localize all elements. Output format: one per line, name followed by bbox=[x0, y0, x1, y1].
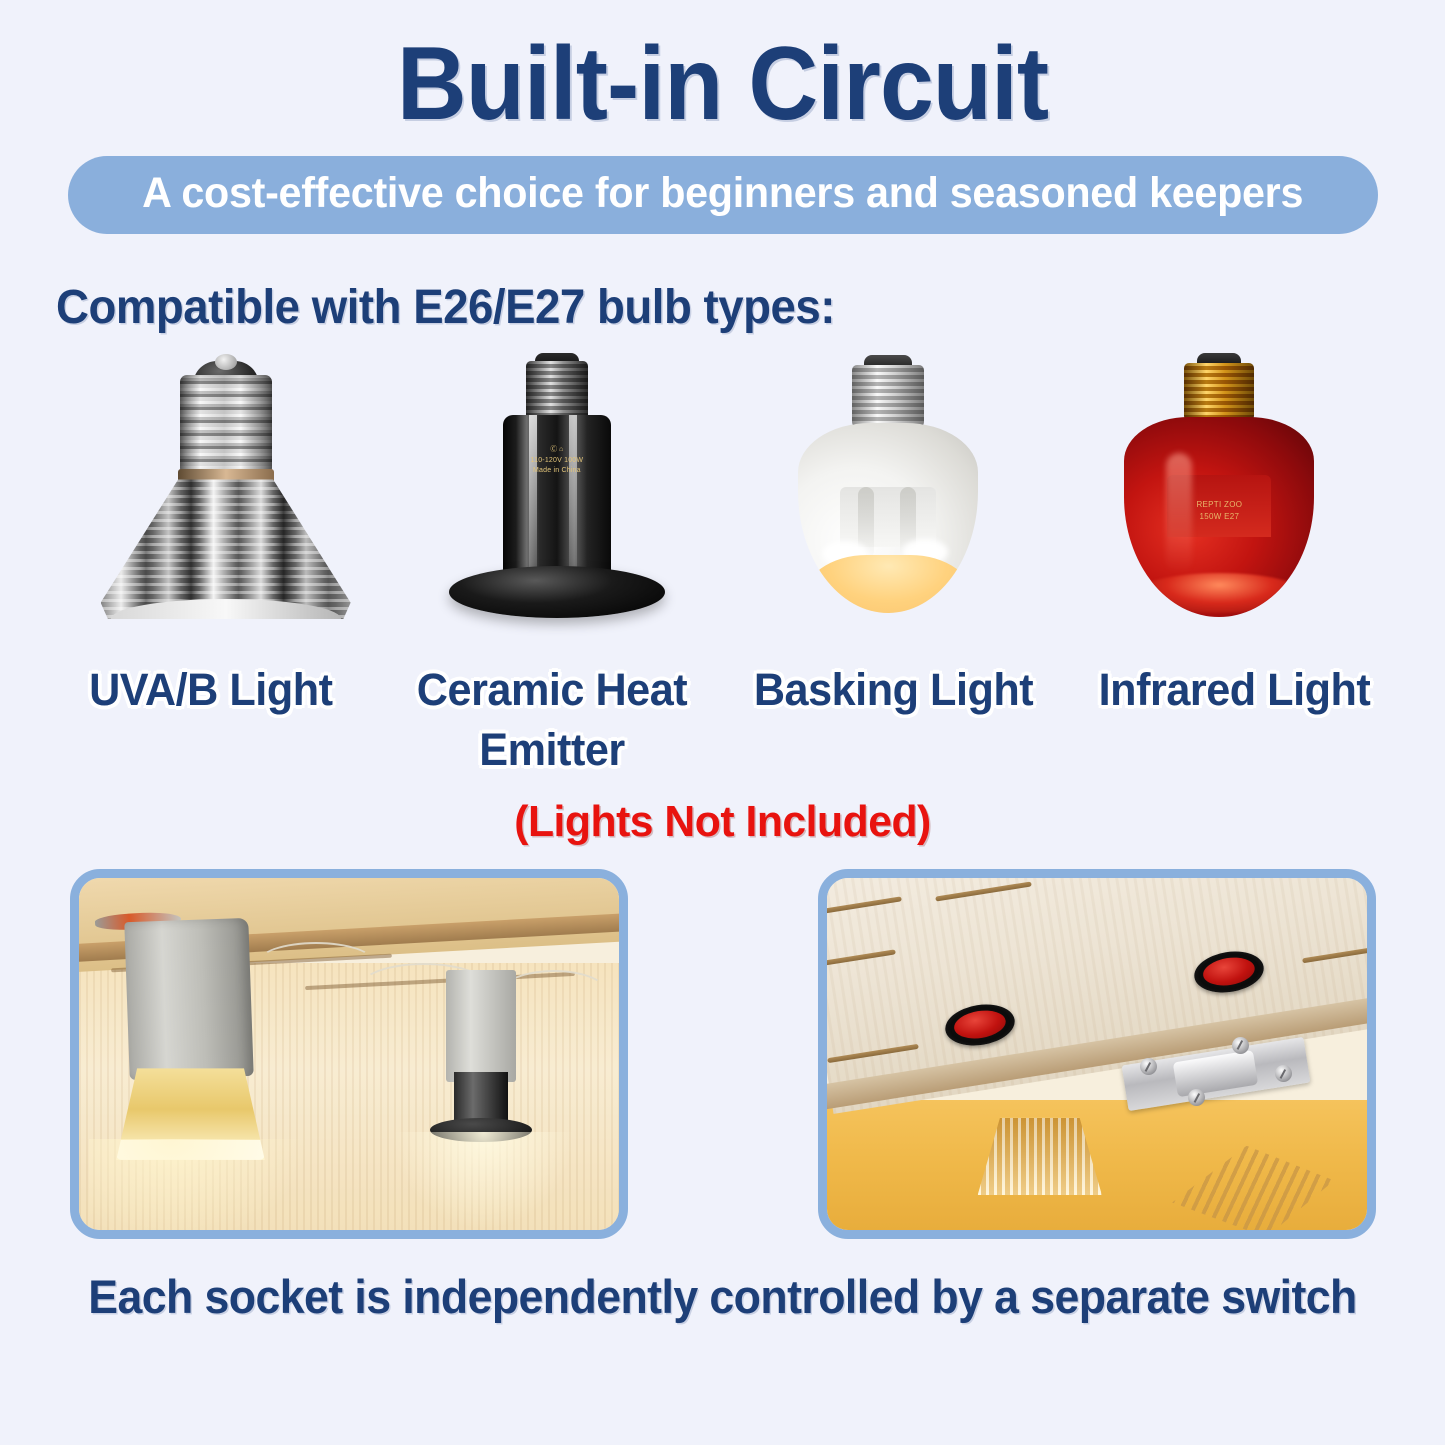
bulb-label-row: UVA/B Light Ceramic Heat Emitter Basking… bbox=[0, 660, 1445, 779]
e27-screw-base-icon bbox=[180, 375, 272, 475]
photo-inner bbox=[827, 878, 1367, 1230]
subtitle-pill: A cost-effective choice for beginners an… bbox=[68, 156, 1378, 234]
bulb-image-row: Ⓒ ⌂ 110-120V 100W Made in China bbox=[0, 353, 1445, 638]
infrared-spec-text: 150W E27 bbox=[1124, 511, 1314, 523]
e27-screw-base-icon bbox=[526, 361, 588, 421]
bulb-image-basking bbox=[738, 353, 1038, 638]
photo-lid-switches bbox=[818, 869, 1376, 1239]
bulb-label-cell-basking: Basking Light bbox=[728, 660, 1058, 719]
ce-mark-icon: Ⓒ ⌂ bbox=[503, 445, 611, 455]
bulb-label-cell-uvab: UVA/B Light bbox=[46, 660, 376, 719]
photo-inner bbox=[79, 878, 619, 1230]
bulb-neck-icon bbox=[840, 487, 936, 547]
ceramic-origin-text: Made in China bbox=[503, 466, 611, 476]
lights-not-included-notice: (Lights Not Included) bbox=[22, 797, 1424, 847]
bulb-label-cell-ceramic: Ceramic Heat Emitter bbox=[387, 660, 717, 779]
lamp-socket-left bbox=[124, 918, 254, 1081]
infrared-brand-text: REPTI ZOO bbox=[1124, 499, 1314, 511]
header-block: Built-in Circuit A cost-effective choice… bbox=[0, 0, 1445, 335]
wiring-cable bbox=[257, 942, 376, 984]
bulb-label-uvab: UVA/B Light bbox=[89, 660, 332, 719]
bulb-label-ceramic: Ceramic Heat Emitter bbox=[393, 660, 710, 779]
ceramic-flange-base-icon bbox=[449, 566, 665, 618]
hinge-screw-icon bbox=[1140, 1058, 1157, 1075]
ceramic-emitter-body-icon: Ⓒ ⌂ 110-120V 100W Made in China bbox=[503, 415, 611, 580]
light-beam-glow bbox=[89, 1139, 305, 1231]
ceramic-voltage-text: 110-120V 100W bbox=[503, 456, 611, 466]
compatible-heading: Compatible with E26/E27 bulb types: bbox=[56, 280, 1376, 335]
chrome-reflector-icon bbox=[101, 479, 351, 619]
bulb-label-basking: Basking Light bbox=[753, 660, 1032, 719]
light-beam-glow bbox=[392, 1132, 576, 1231]
photo-sockets-under-lid bbox=[70, 869, 628, 1239]
frosted-glass-envelope-icon bbox=[798, 423, 978, 613]
ceramic-print-block: Ⓒ ⌂ 110-120V 100W Made in China bbox=[503, 445, 611, 475]
subtitle-text: A cost-effective choice for beginners an… bbox=[142, 169, 1303, 218]
footer-caption: Each socket is independently controlled … bbox=[36, 1269, 1409, 1324]
infrared-print-block: REPTI ZOO 150W E27 bbox=[1124, 499, 1314, 523]
bulb-image-uvab bbox=[76, 353, 376, 638]
gold-e27-screw-base-icon bbox=[1184, 363, 1254, 421]
bulb-label-cell-infrared: Infrared Light bbox=[1069, 660, 1399, 719]
photo-row bbox=[0, 869, 1445, 1239]
subtitle-pill-wrapper: A cost-effective choice for beginners an… bbox=[0, 156, 1445, 234]
bulb-image-infrared: REPTI ZOO 150W E27 bbox=[1069, 353, 1369, 638]
lamp-socket-right bbox=[446, 970, 516, 1083]
hinge-screw-icon bbox=[1232, 1037, 1249, 1054]
bulb-label-infrared: Infrared Light bbox=[1099, 660, 1371, 719]
bulb-image-ceramic: Ⓒ ⌂ 110-120V 100W Made in China bbox=[407, 353, 707, 638]
hinge-screw-icon bbox=[1275, 1065, 1292, 1082]
warm-glow-icon bbox=[802, 555, 975, 613]
wiring-cable bbox=[500, 970, 608, 1016]
red-glow-icon bbox=[1136, 573, 1303, 613]
red-glass-envelope-icon: REPTI ZOO 150W E27 bbox=[1124, 417, 1314, 617]
e27-screw-base-icon bbox=[852, 365, 924, 427]
page-title: Built-in Circuit bbox=[51, 26, 1395, 142]
